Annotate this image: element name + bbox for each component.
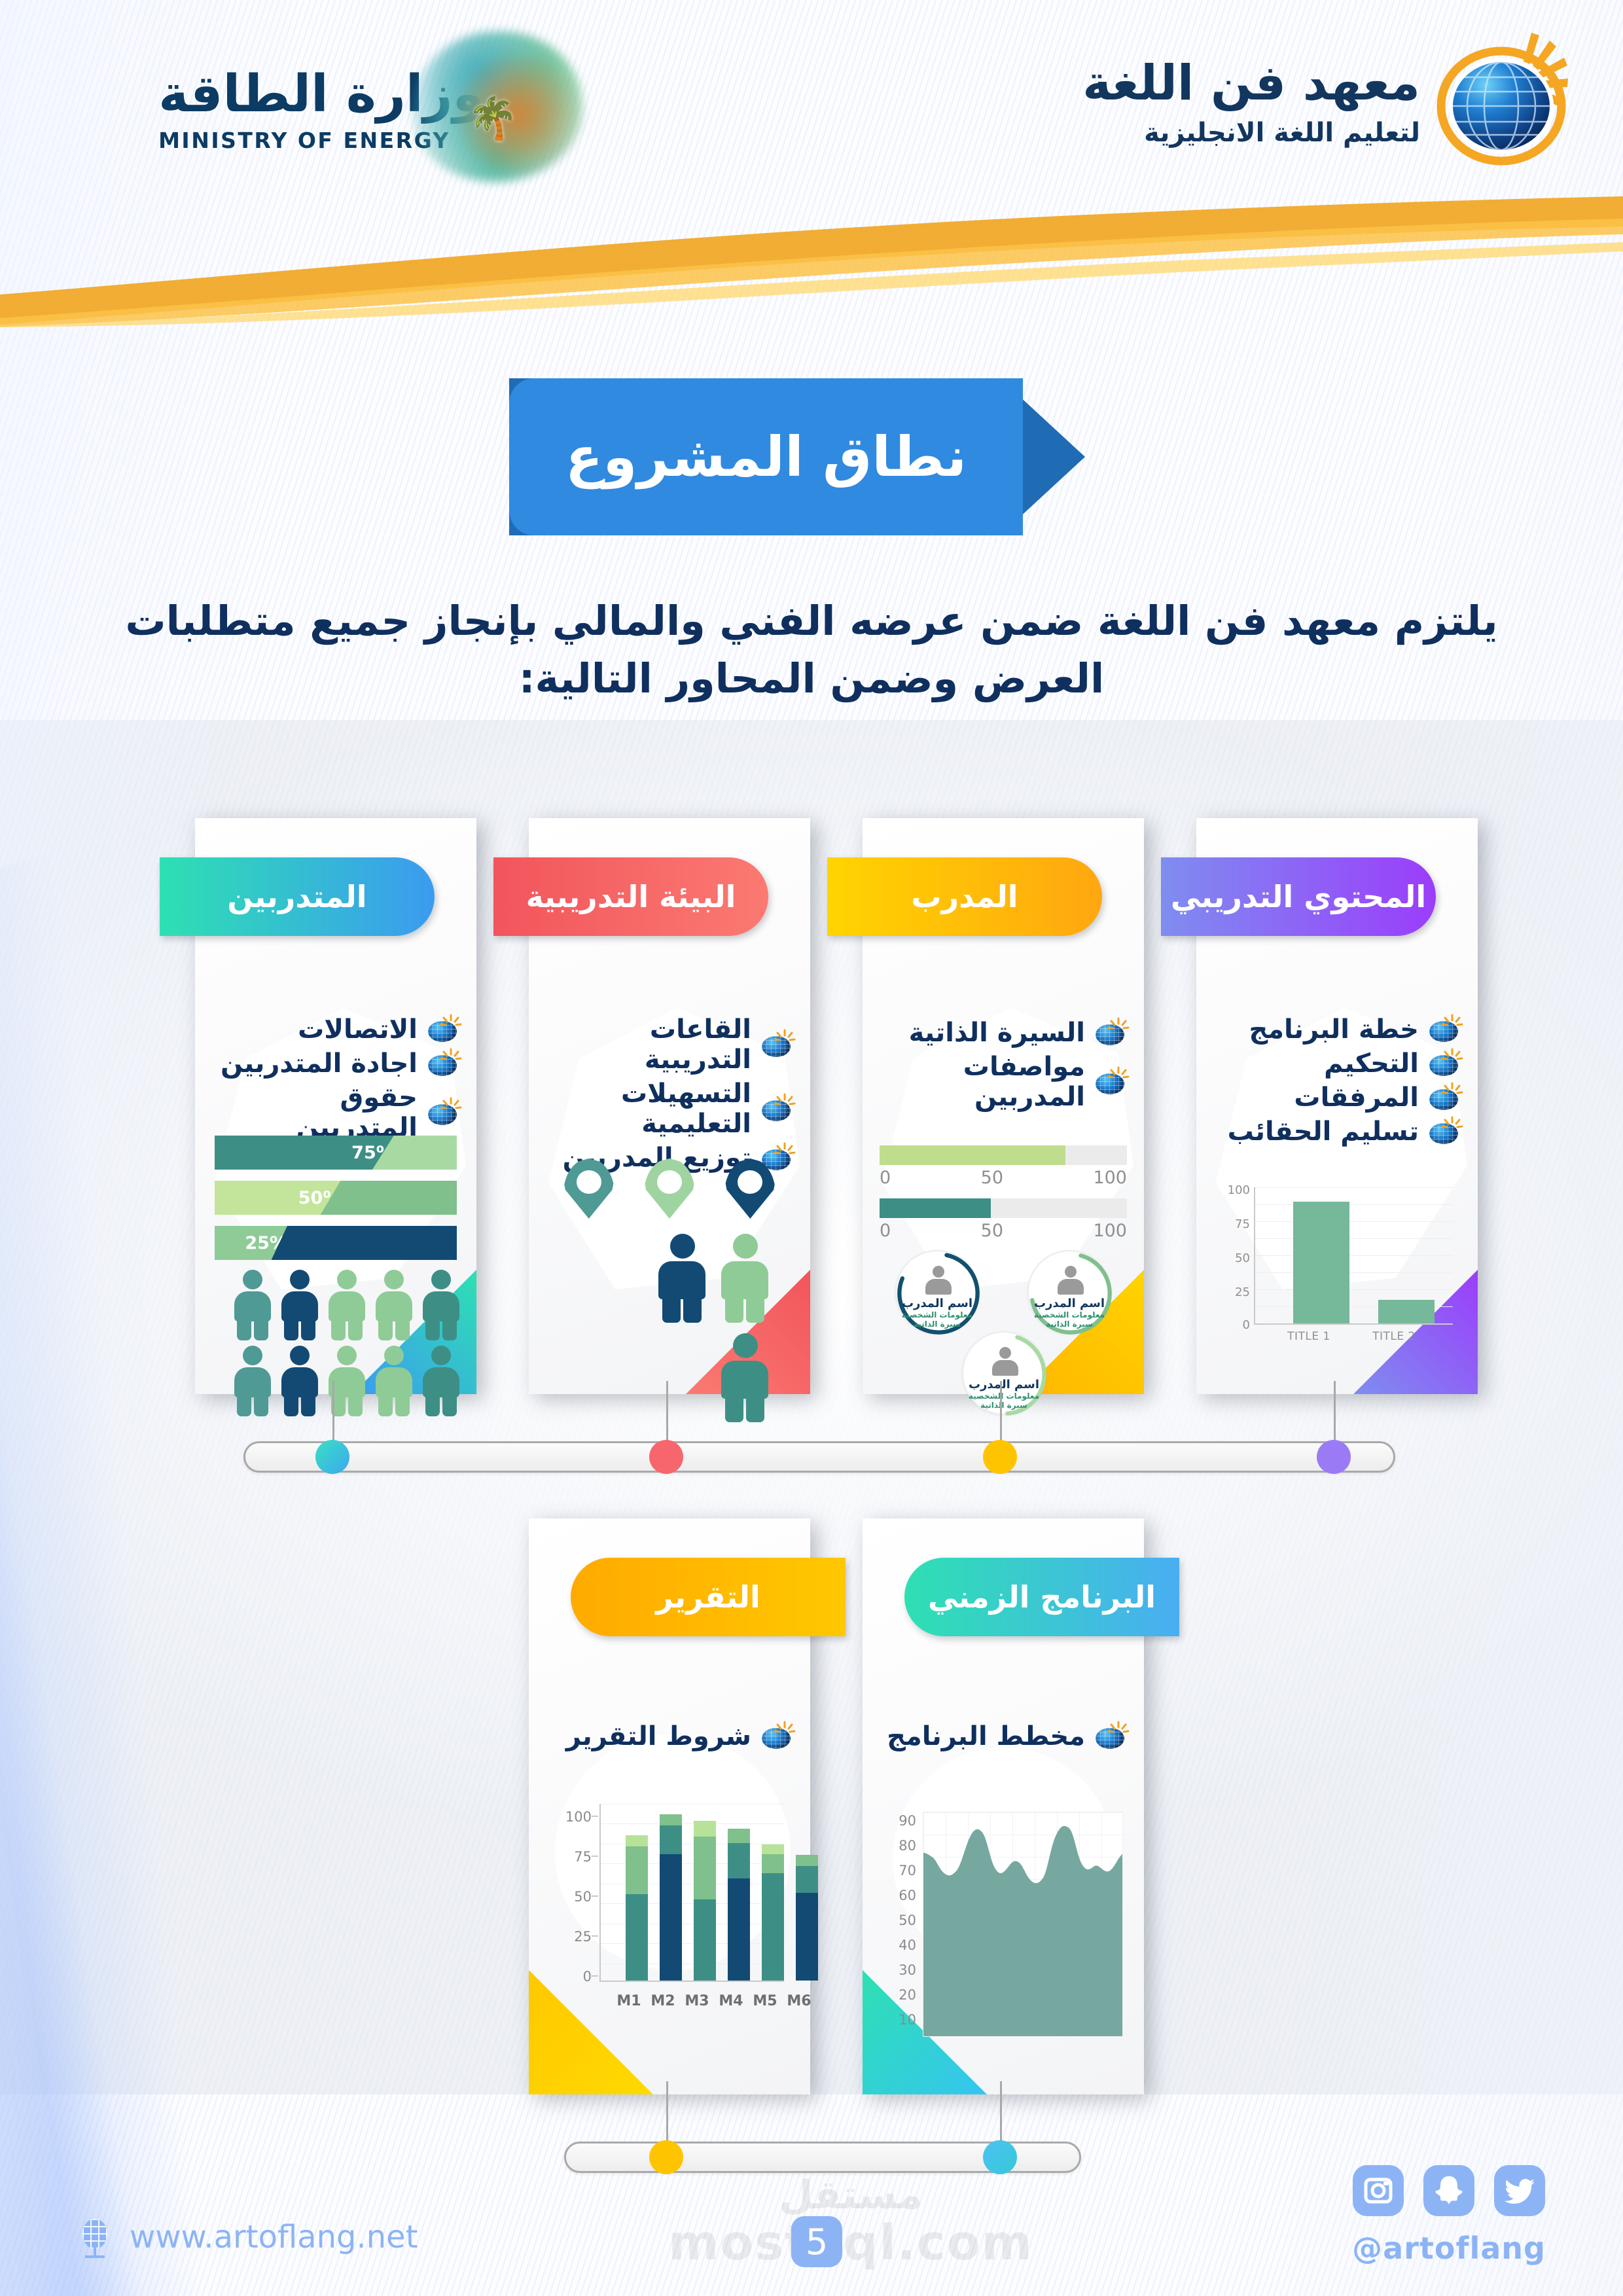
- card-title: المحتوي التدريبي: [1171, 879, 1426, 914]
- watermark-english: mostaql.com: [668, 2215, 1033, 2271]
- x-axis-tick: M5: [747, 1993, 783, 2009]
- person-icon: [719, 1234, 771, 1323]
- globe-icon: [77, 2216, 113, 2258]
- sun-rays-icon: [774, 1093, 796, 1113]
- sun-rays-icon: [440, 1097, 462, 1117]
- list-item: خطة البرنامج: [1212, 1014, 1462, 1045]
- timeline-node-environment[interactable]: [649, 1440, 683, 1474]
- trainer-progress-bars: 0 50 100 0 50 100: [880, 1145, 1127, 1251]
- y-axis-tick: 20: [880, 1987, 916, 2003]
- trainer-profile-2[interactable]: اسم المدرب معلومات الشخصية سيرة الذاتية: [1027, 1250, 1111, 1334]
- bullet-list-content: خطة البرنامج التحكيم المرفقات تسليم: [1212, 1014, 1462, 1151]
- globe-bullet-icon: [427, 1049, 461, 1079]
- x-axis-tick: M3: [679, 1993, 715, 2009]
- bullet-list-trainees: الاتصالات اجادة المتدربين: [211, 1014, 461, 1147]
- globe-bullet-icon: [1094, 1721, 1128, 1751]
- x-axis-tick: M1: [611, 1993, 647, 2009]
- list-item-label: الاتصالات: [298, 1014, 418, 1045]
- card-training-content[interactable]: المحتوي التدريبي خطة البرنامج التحكيم: [1196, 818, 1478, 1394]
- bullet-list-trainer: السيرة الذاتية مواصفات المدربين: [878, 1018, 1128, 1116]
- social-handle: @artoflang: [1352, 2231, 1546, 2266]
- card-ribbon-report: التقرير: [571, 1558, 846, 1636]
- card-trainees[interactable]: المتدربين الاتصالات: [195, 818, 476, 1394]
- card-ribbon-trainees: المتدربين: [160, 857, 435, 936]
- globe-bullet-icon: [427, 1014, 461, 1045]
- person-icon: [656, 1234, 708, 1323]
- instagram-glyph: [1353, 2165, 1404, 2216]
- axis-tick: 0: [880, 1168, 891, 1188]
- card-training-environment[interactable]: البيئة التدريبية القاعات التدريبية التسه…: [529, 818, 810, 1394]
- chart-training-content-bar: 100 75 50 25 0 TITLE 1 TITLE 2: [1219, 1185, 1455, 1348]
- list-item: السيرة الذاتية: [878, 1018, 1128, 1048]
- sun-rays-icon: [774, 1029, 796, 1049]
- chart-report-stacked-bar: 100 75 50 25 0: [548, 1800, 791, 2016]
- timeline-top: [0, 1381, 1623, 1466]
- trainer-name: اسم المدرب: [1029, 1297, 1110, 1310]
- infographic-page: وزارة الطاقة MINISTRY OF ENERGY 🌴 معهد ف…: [0, 0, 1623, 2296]
- list-item: حقوق المتدربين: [211, 1083, 461, 1143]
- card-title: المدرب: [911, 879, 1018, 914]
- split-bar-row: 50% 50%: [215, 1181, 457, 1215]
- axis-tick: 0: [880, 1221, 891, 1241]
- banner-body: نطاق المشروع: [509, 378, 1023, 535]
- globe-bullet-icon: [1428, 1014, 1462, 1045]
- sun-rays-icon: [1107, 1017, 1130, 1037]
- trainer-sub-1: معلومات الشخصية: [897, 1310, 978, 1319]
- location-pin-group: [548, 1158, 791, 1219]
- card-ribbon-trainer: المدرب: [827, 857, 1102, 936]
- location-pin-icon: [644, 1158, 695, 1219]
- progress-bar-track: [880, 1198, 1127, 1218]
- list-item: شروط التقرير: [544, 1721, 794, 1751]
- progress-bar-fill: [880, 1145, 1065, 1165]
- split-bar-left: 75%: [215, 1136, 394, 1170]
- y-axis-tick: 75: [548, 1849, 592, 1865]
- watermark-arabic: مستقل: [668, 2176, 1034, 2215]
- list-item-label: اجادة المتدربين: [221, 1049, 418, 1079]
- list-item: مواصفات المدربين: [878, 1052, 1128, 1112]
- avatar-icon: [1058, 1266, 1084, 1295]
- sun-rays-icon: [1441, 1048, 1463, 1067]
- card-report[interactable]: التقرير شروط التقرير 100 75 50 25 0: [529, 1518, 810, 2094]
- x-axis-tick: M2: [645, 1993, 681, 2009]
- y-axis-tick: 0: [1219, 1318, 1250, 1332]
- bullet-list-schedule: مخطط البرنامج: [878, 1721, 1128, 1755]
- institute-tagline: لتعليم اللغة الانجليزية: [1082, 118, 1420, 148]
- y-axis-tick: 60: [880, 1888, 916, 1903]
- y-axis-tick: 100: [1219, 1183, 1250, 1197]
- social-icon-row: [1352, 2165, 1546, 2216]
- list-item: القاعات التدريبية: [544, 1014, 794, 1075]
- institute-globe-icon: [1433, 26, 1577, 170]
- social-links: @artoflang: [1352, 2165, 1546, 2266]
- list-item-label: المرفقات: [1294, 1083, 1419, 1113]
- area-chart-svg: [923, 1812, 1122, 2036]
- instagram-icon[interactable]: [1353, 2165, 1404, 2216]
- avatar-icon: [992, 1347, 1018, 1376]
- sun-rays-icon: [1441, 1014, 1463, 1033]
- list-item-label: السيرة الذاتية: [909, 1018, 1085, 1048]
- split-percentage-bars: 25% 75% 50% 50% 75% 25%: [215, 1136, 457, 1271]
- list-item-label: خطة البرنامج: [1249, 1014, 1419, 1045]
- y-axis-tick: 90: [880, 1813, 916, 1829]
- sun-rays-icon: [440, 1014, 462, 1033]
- y-axis-tick: 25: [548, 1929, 592, 1945]
- list-item-label: مواصفات المدربين: [878, 1052, 1085, 1112]
- sun-rays-icon: [1441, 1116, 1463, 1136]
- card-title: التقرير: [656, 1579, 760, 1615]
- timeline-node-content[interactable]: [1317, 1440, 1351, 1474]
- globe-bullet-icon: [1094, 1018, 1128, 1048]
- split-bar-row: 25% 75%: [215, 1136, 457, 1170]
- bullet-list-report: شروط التقرير: [544, 1721, 794, 1755]
- axis-tick: 50: [981, 1221, 1003, 1241]
- list-item: تسليم الحقائب: [1212, 1117, 1462, 1147]
- split-bar-left: 50%: [215, 1181, 340, 1215]
- y-axis-tick: 10: [880, 2012, 916, 2028]
- progress-bar-track: [880, 1145, 1127, 1165]
- card-ribbon-content: المحتوي التدريبي: [1161, 857, 1436, 936]
- list-item: مخطط البرنامج: [878, 1721, 1128, 1751]
- timeline-node-trainees[interactable]: [315, 1440, 349, 1474]
- timeline-node-trainer[interactable]: [983, 1440, 1017, 1474]
- list-item-label: تسليم الحقائب: [1228, 1117, 1419, 1147]
- y-axis-tick: 50: [880, 1912, 916, 1928]
- timeline-stem: [1334, 1381, 1336, 1446]
- sun-rays-icon: [440, 1048, 462, 1067]
- sun-rays-icon: [774, 1721, 796, 1740]
- card-ribbon-schedule: البرنامج الزمني: [904, 1558, 1179, 1636]
- x-axis-tick: TITLE 1: [1276, 1330, 1342, 1343]
- list-item: التحكيم: [1212, 1049, 1462, 1079]
- progress-bar-fill: [880, 1198, 991, 1218]
- header-wave-decoration: [0, 196, 1623, 327]
- twitter-glyph: [1494, 2165, 1545, 2216]
- y-axis-tick: 50: [548, 1889, 592, 1905]
- list-item-label: مخطط البرنامج: [887, 1721, 1085, 1751]
- section-title-banner: نطاق المشروع: [509, 378, 1085, 535]
- palm-and-swords-icon: 🌴: [484, 98, 518, 158]
- globe-bullet-icon: [760, 1721, 794, 1751]
- trainer-label: اسم المدرب معلومات الشخصية سيرة الذاتية: [1029, 1297, 1110, 1329]
- person-icon: [279, 1270, 321, 1340]
- y-axis-tick: 70: [880, 1863, 916, 1878]
- x-axis-tick: M6: [781, 1993, 817, 2009]
- progress-axis-labels: 0 50 100: [880, 1168, 1127, 1188]
- institute-name: معهد فن اللغة: [1082, 59, 1420, 107]
- globe-bullet-icon: [1428, 1083, 1462, 1113]
- location-pin-icon: [563, 1158, 615, 1219]
- trainer-sub-2: سيرة الذاتية: [897, 1319, 978, 1329]
- snapchat-icon[interactable]: [1423, 2165, 1474, 2216]
- website-url: www.artoflang.net: [130, 2219, 418, 2255]
- list-item-label: حقوق المتدربين: [211, 1083, 418, 1143]
- x-axis-tick: M4: [713, 1993, 749, 2009]
- avatar-icon: [925, 1266, 952, 1295]
- page-header: وزارة الطاقة MINISTRY OF ENERGY 🌴 معهد ف…: [0, 0, 1623, 314]
- website-link[interactable]: www.artoflang.net: [77, 2216, 418, 2258]
- list-item: اجادة المتدربين: [211, 1049, 461, 1079]
- chart-plot-area: [923, 1812, 1123, 2037]
- trainer-profile-1[interactable]: اسم المدرب معلومات الشخصية سيرة الذاتية: [895, 1250, 979, 1334]
- trainer-sub-1: معلومات الشخصية: [1029, 1310, 1110, 1319]
- list-item-label: التسهيلات التعليمية: [544, 1079, 751, 1139]
- list-item: المرفقات: [1212, 1083, 1462, 1113]
- card-title: البيئة التدريبية: [526, 879, 736, 914]
- timeline-stem: [1000, 1381, 1002, 1446]
- card-trainer[interactable]: المدرب السيرة الذاتية مواصفات المدربين: [863, 818, 1144, 1394]
- card-title: البرنامج الزمني: [928, 1579, 1156, 1615]
- chart-plot-area: [1254, 1187, 1453, 1325]
- twitter-icon[interactable]: [1494, 2165, 1545, 2216]
- globe-bullet-icon: [1094, 1067, 1128, 1097]
- person-icon: [420, 1270, 462, 1340]
- sun-rays-icon: [1441, 1082, 1463, 1102]
- y-axis-tick: 75: [1219, 1217, 1250, 1231]
- timeline-stem: [666, 1381, 668, 1446]
- page-title: نطاق المشروع: [565, 425, 967, 489]
- axis-tick: 100: [1093, 1221, 1127, 1241]
- list-item-label: التحكيم: [1324, 1049, 1419, 1079]
- y-axis-tick: 25: [1219, 1285, 1250, 1299]
- y-axis-tick: 30: [880, 1962, 916, 1978]
- timeline-track: [243, 1441, 1395, 1473]
- intro-paragraph: يلتزم معهد فن اللغة ضمن عرضه الفني والما…: [118, 592, 1505, 708]
- trainer-sub-2: سيرة الذاتية: [1029, 1319, 1110, 1329]
- globe-sun-svg: [1433, 26, 1577, 170]
- y-axis-tick: 0: [548, 1969, 592, 1984]
- trainer-name: اسم المدرب: [897, 1297, 978, 1310]
- bar-title-2: [1378, 1300, 1435, 1323]
- bullet-list-environment: القاعات التدريبية التسهيلات التعليمية تو…: [544, 1014, 794, 1177]
- card-ribbon-environment: البيئة التدريبية: [493, 857, 768, 936]
- page-footer: www.artoflang.net: [0, 2126, 1623, 2296]
- progress-axis-labels: 0 50 100: [880, 1221, 1127, 1241]
- location-pin-icon: [724, 1158, 776, 1219]
- person-icon: [373, 1270, 415, 1340]
- snapchat-glyph: [1423, 2165, 1474, 2216]
- globe-bullet-icon: [760, 1030, 794, 1060]
- card-title: المتدربين: [227, 879, 366, 914]
- x-axis-tick: TITLE 2: [1361, 1330, 1427, 1343]
- globe-bullet-icon: [427, 1098, 461, 1128]
- person-icon: [326, 1270, 368, 1340]
- wave-svg: [0, 196, 1623, 327]
- list-item: التسهيلات التعليمية: [544, 1079, 794, 1139]
- bar-title-1: [1293, 1202, 1349, 1323]
- globe-bullet-icon: [1428, 1049, 1462, 1079]
- list-item-label: شروط التقرير: [566, 1721, 751, 1751]
- page-number-badge: 5: [791, 2216, 842, 2267]
- list-item: الاتصالات: [211, 1014, 461, 1045]
- split-bar-row: 75% 25%: [215, 1226, 457, 1260]
- card-schedule[interactable]: البرنامج الزمني مخطط البرنامج 90 80 70 6…: [863, 1518, 1144, 2094]
- y-axis-tick: 40: [880, 1937, 916, 1953]
- y-axis-tick: 100: [548, 1809, 592, 1825]
- sun-rays-icon: [1107, 1721, 1130, 1740]
- list-item-label: القاعات التدريبية: [544, 1014, 751, 1075]
- globe-bullet-icon: [1428, 1117, 1462, 1147]
- mostaql-watermark: مستقل mostaql.com: [668, 2176, 1034, 2271]
- chart-plot-area: [599, 1804, 784, 1982]
- globe-bullet-icon: [760, 1094, 794, 1124]
- chart-schedule-area: 90 80 70 60 50 40 30 20 10: [880, 1806, 1127, 2042]
- axis-tick: 50: [981, 1168, 1003, 1188]
- institute-logo-text: معهد فن اللغة لتعليم اللغة الانجليزية: [1082, 59, 1420, 148]
- person-icon: [232, 1270, 274, 1340]
- y-axis-tick: 50: [1219, 1251, 1250, 1265]
- timeline-stem: [332, 1381, 334, 1446]
- sun-rays-icon: [1107, 1066, 1130, 1086]
- trainer-label: اسم المدرب معلومات الشخصية سيرة الذاتية: [897, 1297, 978, 1329]
- axis-tick: 100: [1093, 1168, 1127, 1188]
- y-axis-tick: 80: [880, 1838, 916, 1854]
